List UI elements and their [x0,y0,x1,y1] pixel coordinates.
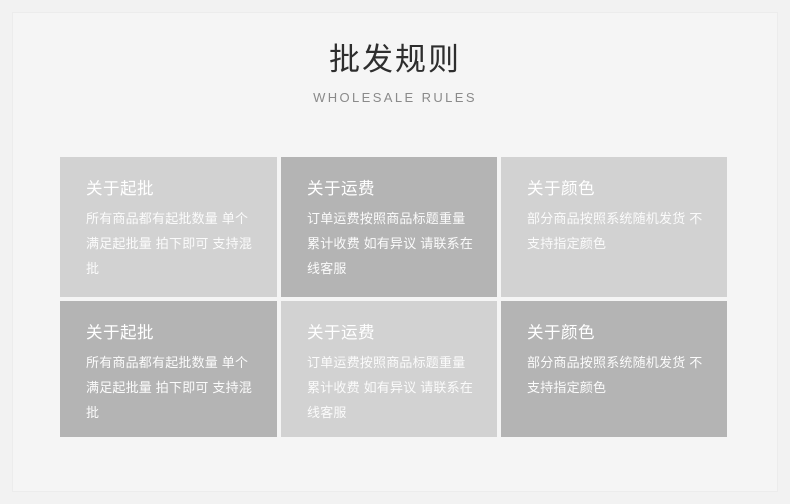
rule-card: 关于颜色 部分商品按照系统随机发货 不支持指定颜色 [501,157,727,297]
page-subtitle: WHOLESALE RULES [0,88,790,108]
rule-card-title: 关于运费 [307,177,475,201]
rule-card: 关于起批 所有商品都有起批数量 单个满足起批量 拍下即可 支持混批 [60,301,277,437]
rule-card-title: 关于起批 [86,321,255,345]
wholesale-rules-page: 批发规则 WHOLESALE RULES 关于起批 所有商品都有起批数量 单个满… [0,0,790,504]
rule-card-body: 订单运费按照商品标题重量累计收费 如有异议 请联系在线客服 [307,206,475,281]
rule-card-title: 关于颜色 [527,177,705,201]
rule-card: 关于运费 订单运费按照商品标题重量累计收费 如有异议 请联系在线客服 [281,301,497,437]
rule-card-body: 部分商品按照系统随机发货 不支持指定颜色 [527,350,705,400]
rule-card-body: 订单运费按照商品标题重量累计收费 如有异议 请联系在线客服 [307,350,475,425]
rule-card-body: 所有商品都有起批数量 单个满足起批量 拍下即可 支持混批 [86,350,255,425]
rule-card: 关于颜色 部分商品按照系统随机发货 不支持指定颜色 [501,301,727,437]
rules-grid: 关于起批 所有商品都有起批数量 单个满足起批量 拍下即可 支持混批 关于运费 订… [60,157,727,437]
rule-card: 关于运费 订单运费按照商品标题重量累计收费 如有异议 请联系在线客服 [281,157,497,297]
rule-card-body: 所有商品都有起批数量 单个满足起批量 拍下即可 支持混批 [86,206,255,281]
page-title: 批发规则 [0,38,790,82]
rule-card-title: 关于运费 [307,321,475,345]
page-header: 批发规则 WHOLESALE RULES [0,38,790,108]
rule-card-title: 关于颜色 [527,321,705,345]
rule-card: 关于起批 所有商品都有起批数量 单个满足起批量 拍下即可 支持混批 [60,157,277,297]
rule-card-body: 部分商品按照系统随机发货 不支持指定颜色 [527,206,705,256]
rule-card-title: 关于起批 [86,177,255,201]
